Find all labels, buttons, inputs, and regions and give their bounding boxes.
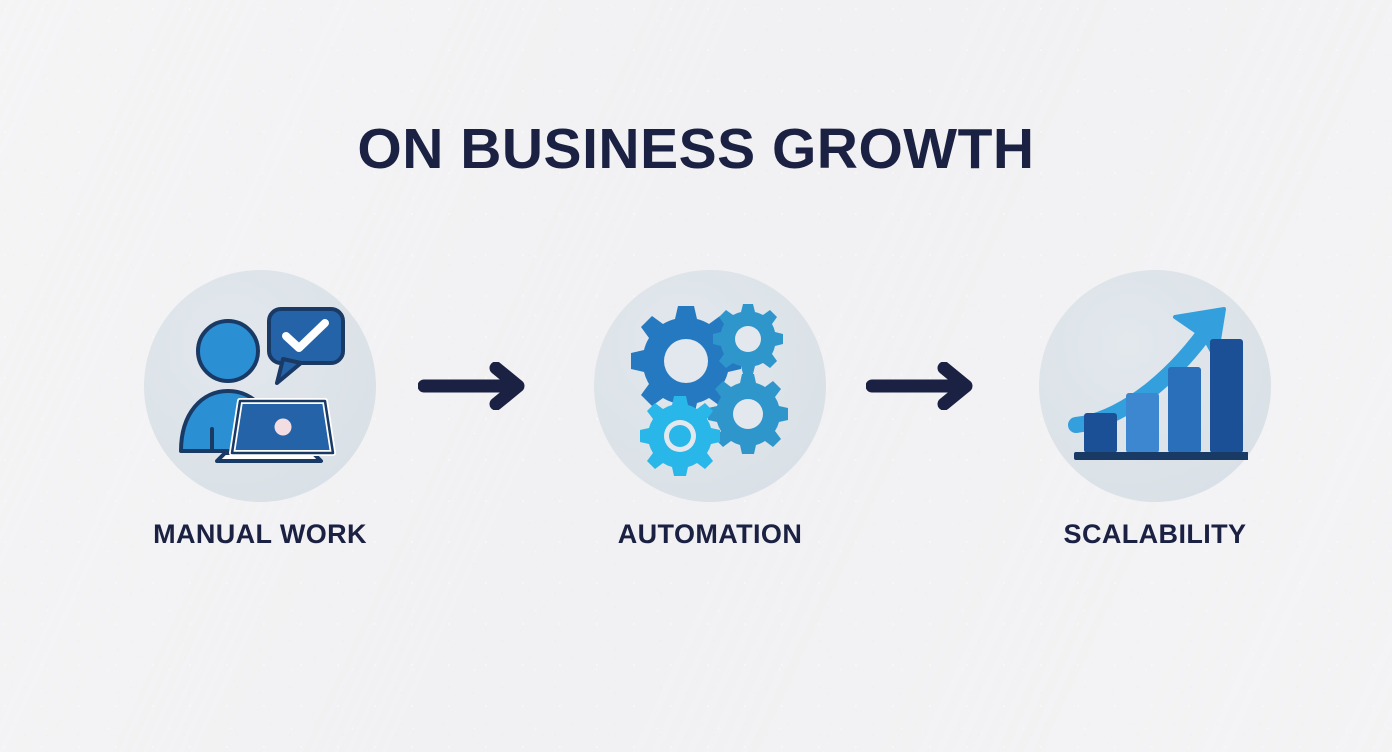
flow-step-automation[interactable]: AUTOMATION — [560, 270, 860, 550]
icon-circle-manual-work — [144, 270, 376, 502]
flow-connector-1 — [418, 362, 530, 415]
person-at-laptop-with-check-bubble-icon — [165, 291, 355, 481]
process-flow: MANUAL WORK — [0, 270, 1392, 550]
bar-1 — [1084, 413, 1117, 453]
flow-step-scalability[interactable]: SCALABILITY — [1005, 270, 1305, 550]
flow-step-label-scalability: SCALABILITY — [1005, 519, 1305, 550]
flow-step-label-manual-work: MANUAL WORK — [110, 519, 410, 550]
flow-step-label-automation: AUTOMATION — [560, 519, 860, 550]
arrow-right-icon — [866, 362, 978, 410]
bar-2 — [1126, 393, 1159, 453]
flow-connector-2 — [866, 362, 978, 415]
page-title: ON BUSINESS GROWTH — [0, 120, 1392, 180]
flow-step-manual-work[interactable]: MANUAL WORK — [110, 270, 410, 550]
gear-top-right — [713, 304, 783, 374]
icon-circle-automation — [594, 270, 826, 502]
growth-bar-chart-arrow-icon — [1062, 293, 1248, 479]
chart-baseline — [1074, 452, 1248, 460]
bar-3 — [1168, 367, 1201, 453]
arrow-right-icon — [418, 362, 530, 410]
gear-small-cyan — [640, 396, 720, 476]
gears-icon — [620, 296, 800, 476]
icon-circle-scalability — [1039, 270, 1271, 502]
bar-4 — [1210, 339, 1243, 453]
